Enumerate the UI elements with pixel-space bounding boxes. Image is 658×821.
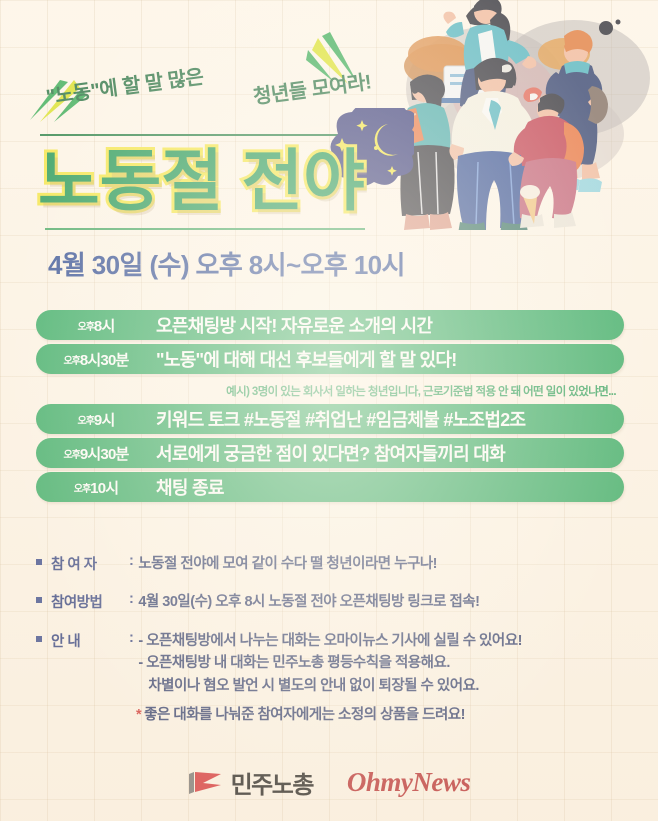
logo-ohmynews: OhmyNews	[347, 767, 471, 798]
schedule-hour-2: 8시30분	[80, 352, 129, 369]
info-value-how-to-join: 4월 30일(수) 오후 8시 노동절 전야 오픈채팅방 링크로 접속!	[138, 591, 636, 613]
info-colon-3: :	[129, 630, 133, 646]
logo-kctu: 민주노총	[188, 765, 313, 800]
schedule-row-4: 오후9시30분 서로에게 궁금한 점이 있다면? 참여자들끼리 대화	[36, 438, 624, 468]
event-date-line: 4월 30일 (수) 오후 8시~오후 10시	[48, 245, 405, 282]
info-label-how-to-join: 참여방법	[51, 591, 129, 612]
prize-note-text: 좋은 대화를 나눠준 참여자에게는 소정의 상품을 드려요!	[144, 707, 465, 723]
notice-line-2: - 오픈채팅방 내 대화는 민주노총 평등수칙을 적용해요.	[138, 652, 636, 674]
page-title: 노동절 전야	[38, 138, 408, 230]
schedule-time-4: 오후9시30분	[36, 443, 156, 464]
schedule-time-5: 오후10시	[36, 477, 156, 498]
info-colon-2: :	[129, 591, 133, 607]
info-label-notice: 안 내	[51, 630, 129, 651]
logo-kctu-text: 민주노총	[231, 765, 313, 800]
info-label-participants: 참 여 자	[51, 553, 129, 574]
schedule-row-1: 오후8시 오픈채팅방 시작! 자유로운 소개의 시간	[36, 310, 624, 340]
prize-note: *좋은 대화를 나눠준 참여자에게는 소정의 상품을 드려요!	[136, 703, 465, 724]
schedule-time-3: 오후9시	[36, 409, 156, 430]
info-row-how-to-join: 참여방법 : 4월 30일(수) 오후 8시 노동절 전야 오픈채팅방 링크로 …	[36, 591, 636, 613]
schedule-text-2: "노동"에 대해 대선 후보들에게 할 말 있다!	[156, 346, 624, 372]
schedule-text-1: 오픈채팅방 시작! 자유로운 소개의 시간	[156, 312, 624, 338]
schedule-note: 예시) 3명이 있는 회사서 일하는 청년입니다, 근로기준법 적용 안 돼 어…	[36, 378, 624, 404]
schedule-hour-5: 10시	[90, 480, 118, 497]
title-rule-bottom	[45, 228, 365, 230]
square-bullet-icon	[36, 636, 42, 642]
kctu-flag-icon	[188, 770, 224, 794]
schedule-list: 오후8시 오픈채팅방 시작! 자유로운 소개의 시간 오후8시30분 "노동"에…	[36, 310, 624, 506]
schedule-text-3: 키워드 토크 #노동절 #취업난 #임금체불 #노조법2조	[156, 406, 624, 432]
schedule-hour-4: 9시30분	[80, 446, 129, 463]
info-row-participants: 참 여 자 : 노동절 전야에 모여 같이 수다 떨 청년이라면 누구나!	[36, 553, 636, 575]
square-bullet-icon	[36, 597, 42, 603]
notice-line-1: - 오픈채팅방에서 나누는 대화는 오마이뉴스 기사에 실릴 수 있어요!	[138, 630, 636, 652]
info-section: 참 여 자 : 노동절 전야에 모여 같이 수다 떨 청년이라면 누구나! 참여…	[36, 553, 636, 713]
schedule-ampm-4: 오후	[63, 450, 79, 461]
schedule-row-3: 오후9시 키워드 토크 #노동절 #취업난 #임금체불 #노조법2조	[36, 404, 624, 434]
footer-logos: 민주노총 OhmyNews	[0, 757, 658, 807]
schedule-text-5: 채팅 종료	[156, 474, 624, 500]
info-value-notice: - 오픈채팅방에서 나누는 대화는 오마이뉴스 기사에 실릴 수 있어요! - …	[138, 630, 636, 697]
schedule-ampm-3: 오후	[78, 416, 94, 427]
poster-canvas: "노동"에 할 말 많은 청년들 모여라! 노동절 전야 4월 30일 (수) …	[0, 0, 658, 821]
info-value-participants: 노동절 전야에 모여 같이 수다 떨 청년이라면 누구나!	[138, 553, 636, 575]
schedule-time-1: 오후8시	[36, 315, 156, 336]
schedule-ampm-5: 오후	[74, 484, 90, 495]
schedule-hour-3: 9시	[94, 412, 115, 429]
schedule-time-2: 오후8시30분	[36, 349, 156, 370]
title-rule-top	[40, 134, 350, 136]
info-colon-1: :	[129, 553, 133, 569]
schedule-hour-1: 8시	[94, 318, 115, 335]
schedule-ampm-1: 오후	[78, 322, 94, 333]
header-illustration	[378, 0, 658, 230]
info-row-notice: 안 내 : - 오픈채팅방에서 나누는 대화는 오마이뉴스 기사에 실릴 수 있…	[36, 630, 636, 697]
schedule-row-5: 오후10시 채팅 종료	[36, 472, 624, 502]
schedule-text-4: 서로에게 궁금한 점이 있다면? 참여자들끼리 대화	[156, 440, 624, 466]
schedule-ampm-2: 오후	[63, 356, 79, 367]
square-bullet-icon	[36, 559, 42, 565]
schedule-row-2: 오후8시30분 "노동"에 대해 대선 후보들에게 할 말 있다!	[36, 344, 624, 374]
asterisk-icon: *	[136, 707, 141, 723]
notice-line-3: 차별이나 혐오 발언 시 별도의 안내 없이 퇴장될 수 있어요.	[138, 675, 636, 697]
